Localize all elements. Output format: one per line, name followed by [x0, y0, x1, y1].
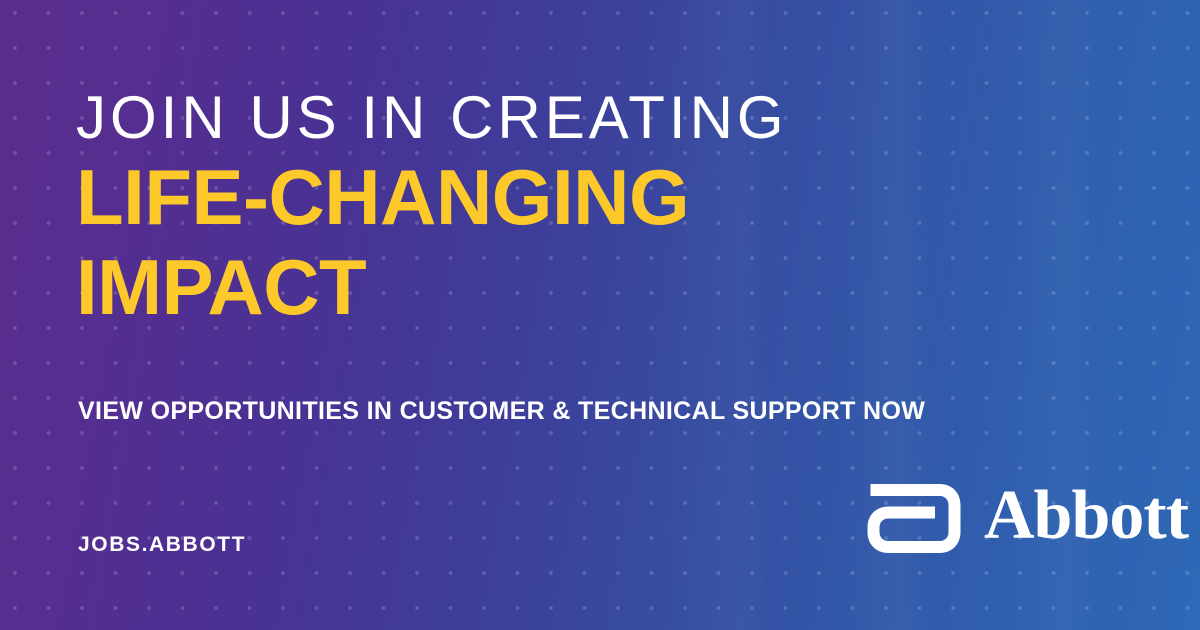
careers-url[interactable]: JOBS.ABBOTT — [78, 532, 246, 558]
headline-block: JOIN US IN CREATING LIFE-CHANGING IMPACT — [76, 84, 788, 332]
banner-content: JOIN US IN CREATING LIFE-CHANGING IMPACT… — [0, 0, 1200, 630]
headline-line-2: LIFE-CHANGING — [76, 152, 788, 242]
abbott-wordmark: Abbott — [984, 481, 1188, 551]
subheadline-cta[interactable]: VIEW OPPORTUNITIES IN CUSTOMER & TECHNIC… — [78, 396, 925, 426]
abbott-careers-banner: JOIN US IN CREATING LIFE-CHANGING IMPACT… — [0, 0, 1200, 630]
abbott-a-symbol-icon — [866, 481, 962, 556]
abbott-logo-lockup[interactable]: Abbott — [866, 481, 1188, 556]
headline-line-3: IMPACT — [76, 242, 788, 332]
headline-line-1: JOIN US IN CREATING — [76, 84, 788, 152]
